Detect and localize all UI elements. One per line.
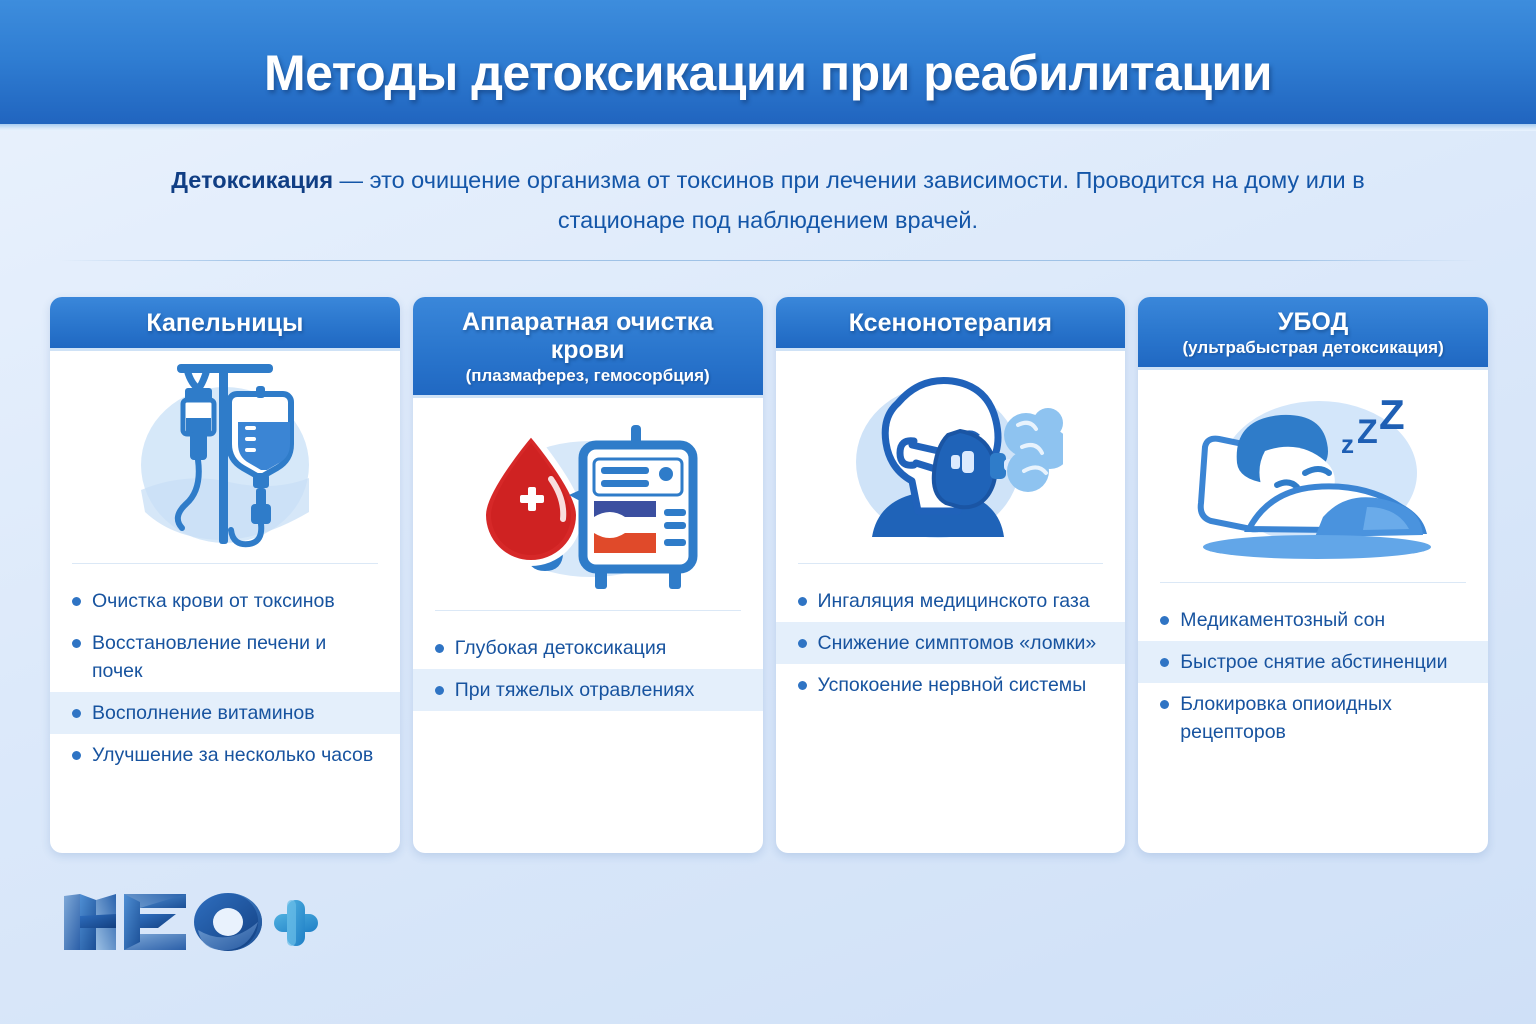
bullet-dot-icon — [798, 681, 807, 690]
bullet-dot-icon — [72, 709, 81, 718]
card-title: Аппаратная очистка крови — [423, 308, 753, 364]
list-item: Успокоение нервной системы — [776, 664, 1126, 706]
list-item: Блокировка опиоидных рецепторов — [1138, 683, 1488, 753]
svg-text:Z: Z — [1357, 413, 1378, 451]
bullet-dot-icon — [435, 644, 444, 653]
card-title: Ксенонотерапия — [786, 309, 1116, 337]
card-illustration — [776, 351, 1126, 563]
bullet-text: Улучшение за несколько часов — [92, 741, 380, 769]
card-bullet-list: Ингаляция медицинското газа Снижение сим… — [776, 564, 1126, 853]
card-illustration — [50, 351, 400, 563]
bullet-dot-icon — [798, 639, 807, 648]
bullet-dot-icon — [72, 597, 81, 606]
list-item: Восстановление печени и почек — [50, 622, 400, 692]
bullet-text: Снижение симптомов «ломки» — [818, 629, 1106, 657]
method-card-apparatnaya-ochistka-krovi[interactable]: Аппаратная очистка крови (плазмаферез, г… — [413, 297, 763, 853]
method-card-kapelnitsy[interactable]: Капельницы — [50, 297, 400, 853]
card-bullet-list: Очистка крови от токсинов Восстановление… — [50, 564, 400, 853]
neo-plus-logo-icon — [58, 888, 318, 958]
card-header: Аппаратная очистка крови (плазмаферез, г… — [413, 297, 763, 398]
bullet-text: Ингаляция медицинското газа — [818, 587, 1106, 615]
oxygen-mask-head-icon — [838, 367, 1063, 547]
list-item: Быстрое снятие абстиненции — [1138, 641, 1488, 683]
bullet-text: Успокоение нервной системы — [818, 671, 1106, 699]
bullet-text: Быстрое снятие абстиненции — [1180, 648, 1468, 676]
svg-text:Z: Z — [1379, 391, 1405, 438]
card-subtitle: (плазмаферез, гемосорбция) — [423, 366, 753, 386]
bullet-dot-icon — [1160, 700, 1169, 709]
bullet-text: Восполнение витаминов — [92, 699, 380, 727]
bullet-text: Очистка крови от токсинов — [92, 587, 380, 615]
blood-purification-machine-icon — [473, 417, 703, 592]
intro-lead-word: Детоксикация — [171, 167, 333, 193]
card-illustration — [413, 398, 763, 610]
bullet-dot-icon — [72, 751, 81, 760]
card-header: Ксенонотерапия — [776, 297, 1126, 351]
list-item: Ингаляция медицинското газа — [776, 580, 1126, 622]
bullet-dot-icon — [435, 686, 444, 695]
bullet-text: Восстановление печени и почек — [92, 629, 380, 685]
method-card-ubod[interactable]: УБОД (ультрабыстрая детоксикация) — [1138, 297, 1488, 853]
bullet-text: Блокировка опиоидных рецепторов — [1180, 690, 1468, 746]
bullet-dot-icon — [798, 597, 807, 606]
method-card-ksenonoterapiya[interactable]: Ксенонотерапия — [776, 297, 1126, 853]
card-subtitle: (ультрабыстрая детоксикация) — [1148, 338, 1478, 358]
card-header: Капельницы — [50, 297, 400, 351]
card-bullet-list: Медикаментозный сон Быстрое снятие абсти… — [1138, 583, 1488, 853]
card-title: Капельницы — [60, 309, 390, 337]
iv-drip-icon — [125, 362, 325, 552]
card-bullet-list: Глубокая детоксикация При тяжелых отравл… — [413, 611, 763, 853]
svg-text:z: z — [1341, 429, 1354, 459]
list-item: Улучшение за несколько часов — [50, 734, 400, 776]
list-item: Восполнение витаминов — [50, 692, 400, 734]
neo-plus-logo[interactable] — [58, 888, 318, 958]
bullet-text: Медикаментозный сон — [1180, 606, 1468, 634]
intro-divider — [58, 260, 1478, 261]
list-item: Глубокая детоксикация — [413, 627, 763, 669]
bullet-text: При тяжелых отравлениях — [455, 676, 743, 704]
method-card-grid: Капельницы — [50, 297, 1488, 853]
top-banner: Методы детоксикации при реабилитации — [0, 0, 1536, 131]
card-illustration: z Z Z — [1138, 370, 1488, 582]
bullet-dot-icon — [72, 639, 81, 648]
list-item: Очистка крови от токсинов — [50, 580, 400, 622]
bullet-dot-icon — [1160, 658, 1169, 667]
list-item: При тяжелых отравлениях — [413, 669, 763, 711]
page-title: Методы детоксикации при реабилитации — [0, 44, 1536, 102]
bullet-text: Глубокая детоксикация — [455, 634, 743, 662]
intro-text: Детоксикация — это очищение организма от… — [168, 160, 1368, 240]
card-header: УБОД (ультрабыстрая детоксикация) — [1138, 297, 1488, 370]
list-item: Медикаментозный сон — [1138, 599, 1488, 641]
list-item: Снижение симптомов «ломки» — [776, 622, 1126, 664]
bullet-dot-icon — [1160, 616, 1169, 625]
intro-rest-text: — это очищение организма от токсинов при… — [333, 167, 1365, 233]
infographic-page: Методы детоксикации при реабилитации Дет… — [0, 0, 1536, 1024]
sleeping-patient-icon: z Z Z — [1191, 389, 1436, 564]
card-title: УБОД — [1148, 308, 1478, 336]
